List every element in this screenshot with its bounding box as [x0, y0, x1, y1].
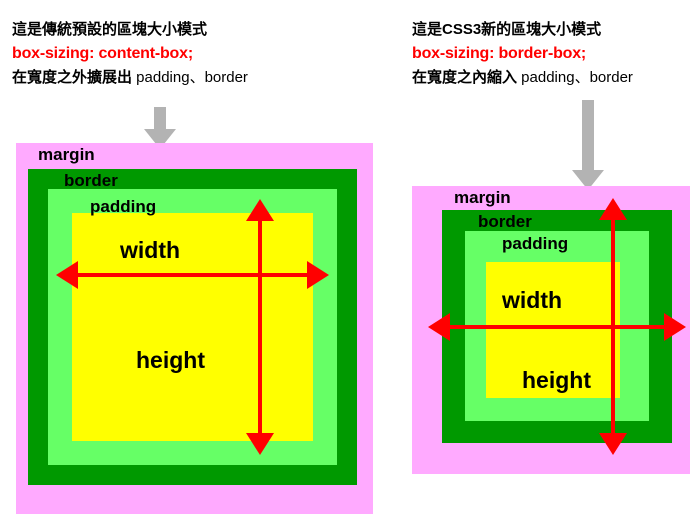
width-arrow-right-tip [664, 313, 686, 341]
height-arrow-shaft [611, 211, 615, 442]
height-label-left: height [136, 347, 205, 374]
content-box-caption-line3-light: padding、border [132, 69, 248, 86]
content-box-left [72, 213, 313, 441]
border-label-right: border [478, 212, 532, 232]
padding-label-left: padding [90, 197, 156, 217]
border-box-caption-line3-light: padding、border [517, 69, 633, 86]
border-box-caption-line1: 這是CSS3新的區塊大小模式 [412, 18, 633, 42]
content-box-caption-line3-bold: 在寬度之外擴展出 [12, 69, 132, 86]
gray-arrow-shaft [154, 107, 166, 131]
width-measure-arrow-right [428, 313, 686, 341]
content-box-diagram: margin border padding width height [16, 143, 373, 514]
height-arrow-bottom-tip [246, 433, 274, 455]
margin-label-right: margin [454, 188, 511, 208]
height-label-right: height [522, 367, 591, 394]
content-box-caption-line1: 這是傳統預設的區塊大小模式 [12, 18, 248, 42]
height-measure-arrow-left [246, 199, 274, 455]
border-box-declaration: box-sizing: border-box; [412, 42, 633, 66]
height-arrow-shaft [258, 212, 262, 442]
content-box-caption: 這是傳統預設的區塊大小模式 box-sizing: content-box; 在… [12, 18, 248, 90]
content-box-caption-line3: 在寬度之外擴展出 padding、border [12, 66, 248, 90]
border-box-diagram: margin border padding width height [412, 186, 690, 474]
border-box-caption: 這是CSS3新的區塊大小模式 box-sizing: border-box; 在… [412, 18, 633, 90]
margin-label-left: margin [38, 145, 95, 165]
content-box-declaration: box-sizing: content-box; [12, 42, 248, 66]
height-measure-arrow-right [599, 198, 627, 455]
width-arrow-right-tip [307, 261, 329, 289]
width-measure-arrow-left [56, 261, 329, 289]
width-arrow-shaft [441, 325, 673, 329]
gray-arrow-shaft [582, 100, 594, 172]
border-box-caption-line3-bold: 在寬度之內縮入 [412, 69, 517, 86]
padding-label-right: padding [502, 234, 568, 254]
border-box-caption-line3: 在寬度之內縮入 padding、border [412, 66, 633, 90]
width-label-right: width [502, 287, 562, 314]
width-label-left: width [120, 237, 180, 264]
border-label-left: border [64, 171, 118, 191]
diagram-canvas: 這是傳統預設的區塊大小模式 box-sizing: content-box; 在… [0, 0, 700, 514]
gray-down-arrow-icon [568, 100, 608, 190]
width-arrow-shaft [69, 273, 316, 277]
height-arrow-bottom-tip [599, 433, 627, 455]
